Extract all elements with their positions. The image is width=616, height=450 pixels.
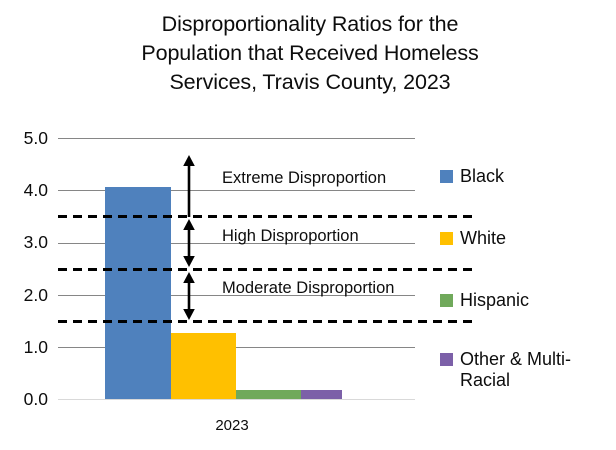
legend-item-other-multiracial[interactable]: Other & Multi- Racial <box>440 349 571 391</box>
legend-item-hispanic[interactable]: Hispanic <box>440 290 529 311</box>
arrow-moderate-disproportion <box>182 272 196 320</box>
legend-swatch-white <box>440 232 453 245</box>
y-tick-label-5: 5.0 <box>0 130 48 148</box>
y-tick-label-4: 4.0 <box>0 182 48 200</box>
legend-swatch-hispanic <box>440 294 453 307</box>
bar-black <box>105 187 171 399</box>
x-tick-label-2023: 2023 <box>186 418 278 433</box>
bar-white <box>171 333 236 399</box>
threshold-line-3-5 <box>58 215 472 218</box>
legend-label-black: Black <box>460 166 504 187</box>
chart-container: Disproportionality Ratios for the Popula… <box>0 0 616 450</box>
legend-item-black[interactable]: Black <box>440 166 504 187</box>
annotation-label-extreme: Extreme Disproportion <box>222 170 386 187</box>
legend-swatch-other-multiracial <box>440 353 453 366</box>
legend-label-hispanic: Hispanic <box>460 290 529 311</box>
legend-swatch-black <box>440 170 453 183</box>
gridline-5 <box>58 138 415 139</box>
bar-hispanic <box>236 390 301 399</box>
y-tick-label-3: 3.0 <box>0 234 48 252</box>
bar-other-multiracial <box>301 390 342 399</box>
annotation-label-high: High Disproportion <box>222 228 359 245</box>
y-tick-label-0: 0.0 <box>0 391 48 409</box>
legend-label-white: White <box>460 228 506 249</box>
threshold-line-2-5 <box>58 268 472 271</box>
y-tick-label-2: 2.0 <box>0 287 48 305</box>
arrow-high-disproportion <box>182 219 196 267</box>
axis-baseline <box>58 399 415 400</box>
legend-item-white[interactable]: White <box>440 228 506 249</box>
y-tick-label-1: 1.0 <box>0 339 48 357</box>
threshold-line-1-5 <box>58 320 472 323</box>
arrow-extreme-disproportion <box>182 155 196 217</box>
legend-label-other-multiracial: Other & Multi- Racial <box>460 349 571 391</box>
annotation-label-moderate: Moderate Disproportion <box>222 280 394 297</box>
